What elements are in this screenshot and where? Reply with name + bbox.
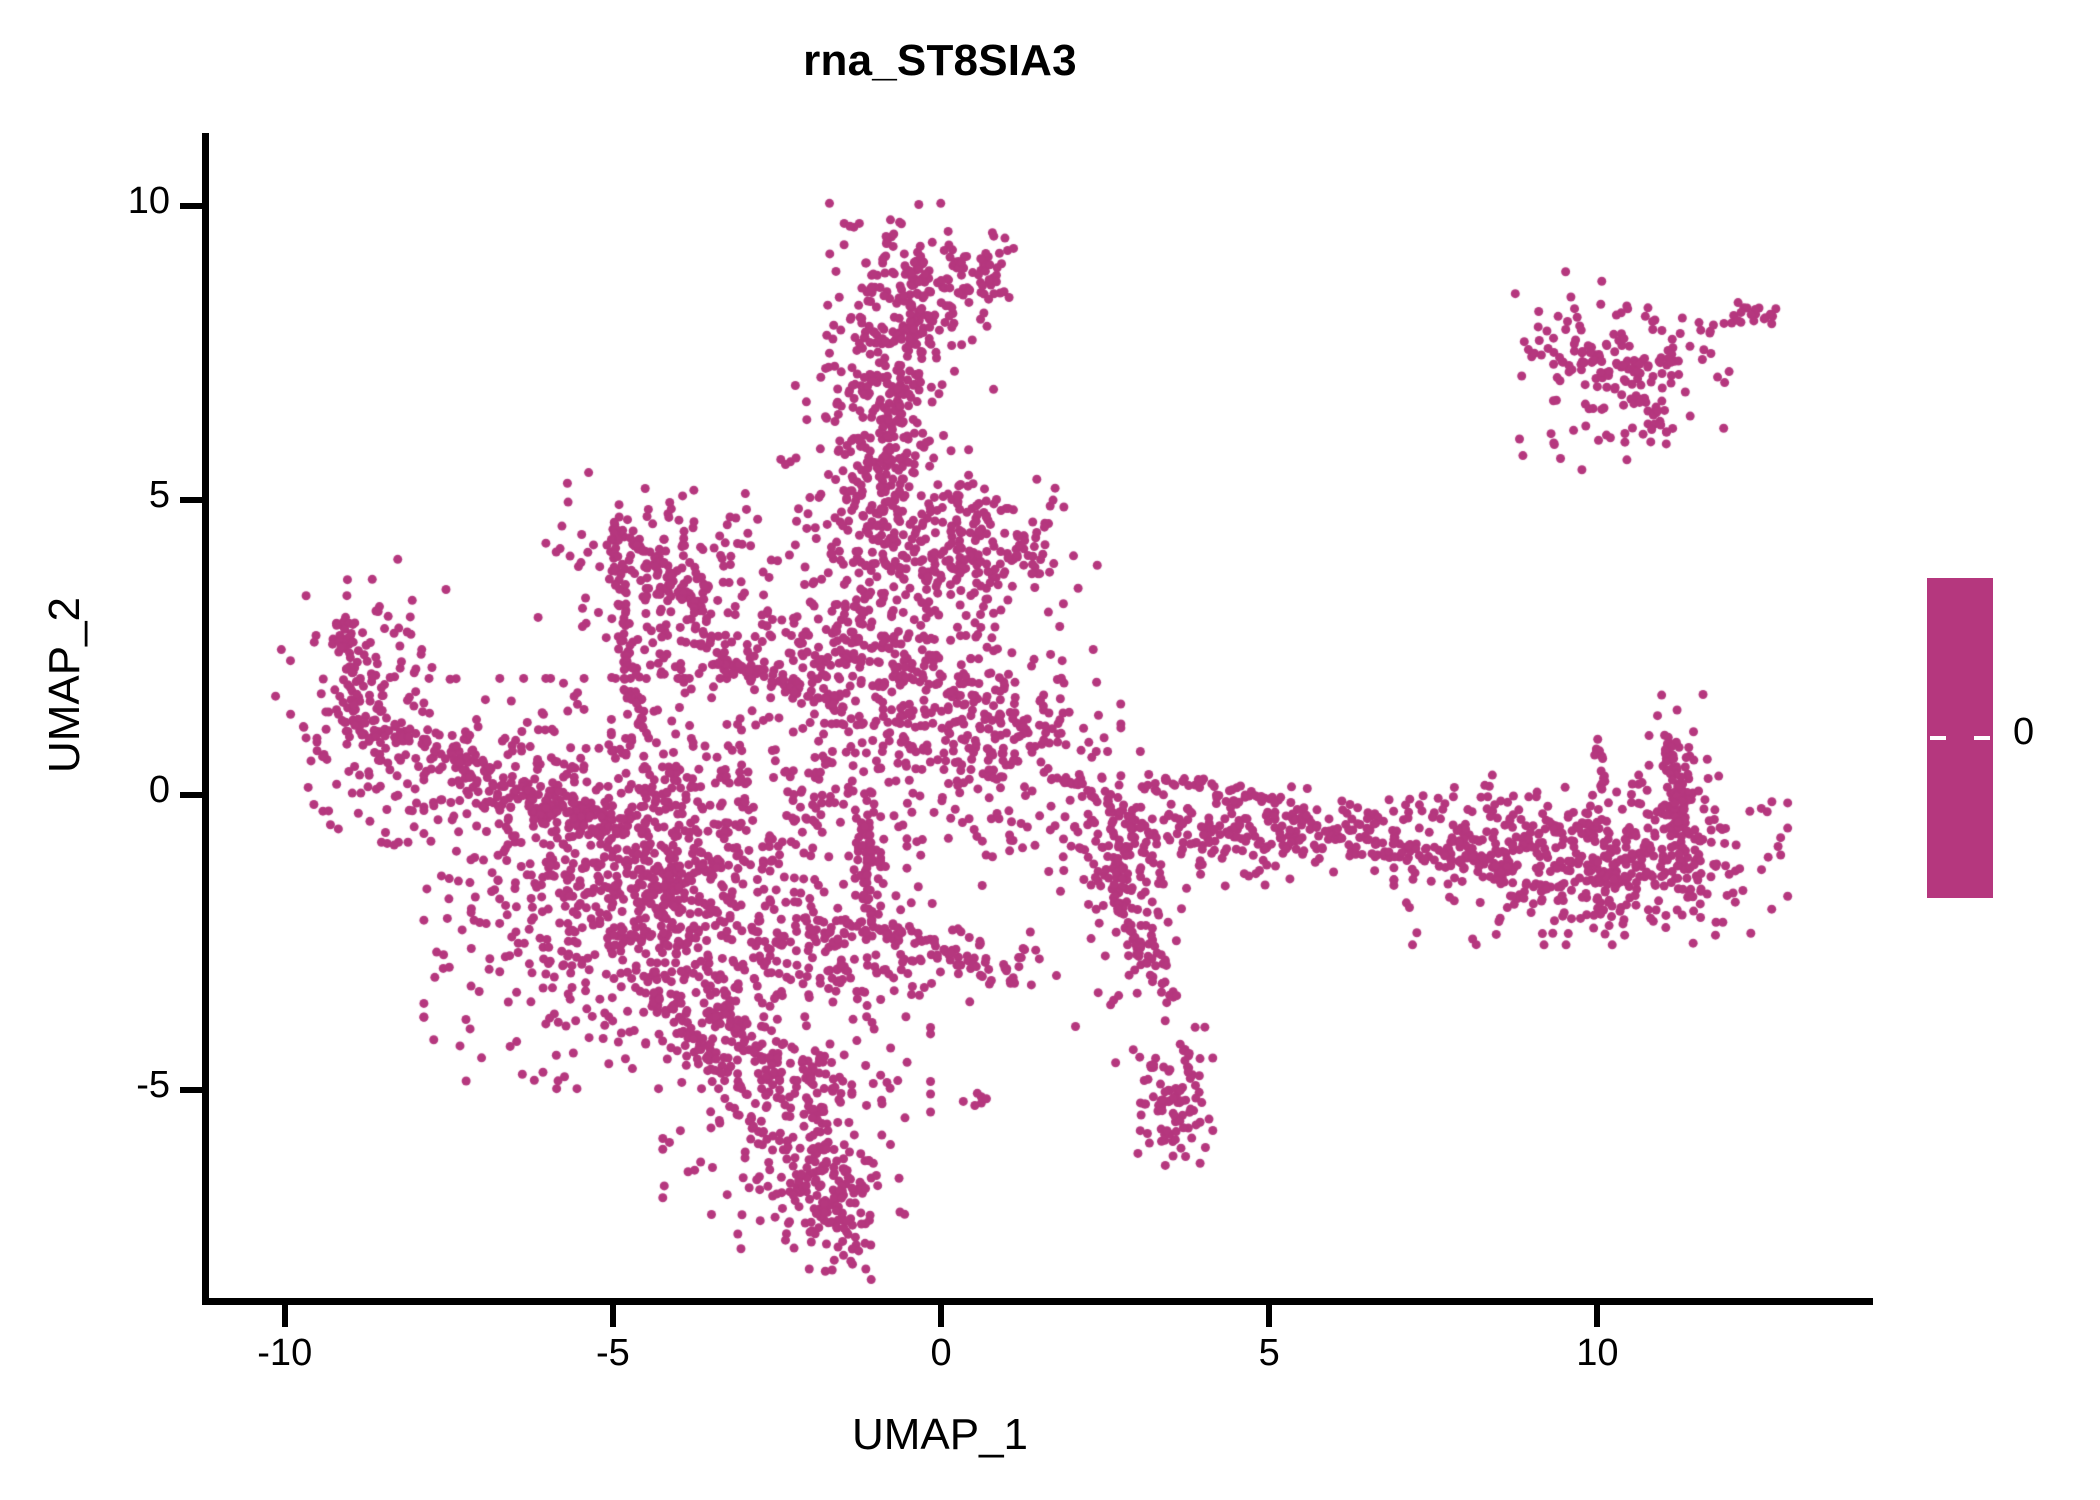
y-tick-label: -5 [0,1064,170,1107]
y-axis-line [202,133,209,1305]
x-tick-label: -10 [205,1332,365,1375]
x-tick-label: -5 [533,1332,693,1375]
y-tick-mark [180,203,202,209]
y-tick-mark [180,1087,202,1093]
x-tick-label: 10 [1517,1332,1677,1375]
x-axis-line [202,1298,1873,1305]
page-title: rna_ST8SIA3 [0,36,1880,86]
colorbar-tick-label-0: 0 [2013,711,2034,754]
colorbar-tick-right [1974,736,1990,740]
y-tick-mark [180,497,202,503]
x-tick-mark [1266,1305,1272,1327]
x-tick-mark [1594,1305,1600,1327]
colorbar-tick-left [1930,736,1946,740]
x-axis-title: UMAP_1 [0,1410,1880,1460]
x-tick-label: 5 [1189,1332,1349,1375]
scatter-plot-area [206,135,1873,1302]
plot-root: rna_ST8SIA3 1050-5 -10-50510 UMAP_1 UMAP… [0,0,2100,1500]
x-tick-mark [610,1305,616,1327]
x-tick-mark [938,1305,944,1327]
scatter-canvas [206,135,1873,1302]
y-axis-title: UMAP_2 [40,365,90,1005]
x-tick-mark [282,1305,288,1327]
y-tick-label: 10 [0,180,170,223]
colorbar-legend: 0 [1927,578,2097,908]
x-tick-label: 0 [861,1332,1021,1375]
y-tick-mark [180,792,202,798]
